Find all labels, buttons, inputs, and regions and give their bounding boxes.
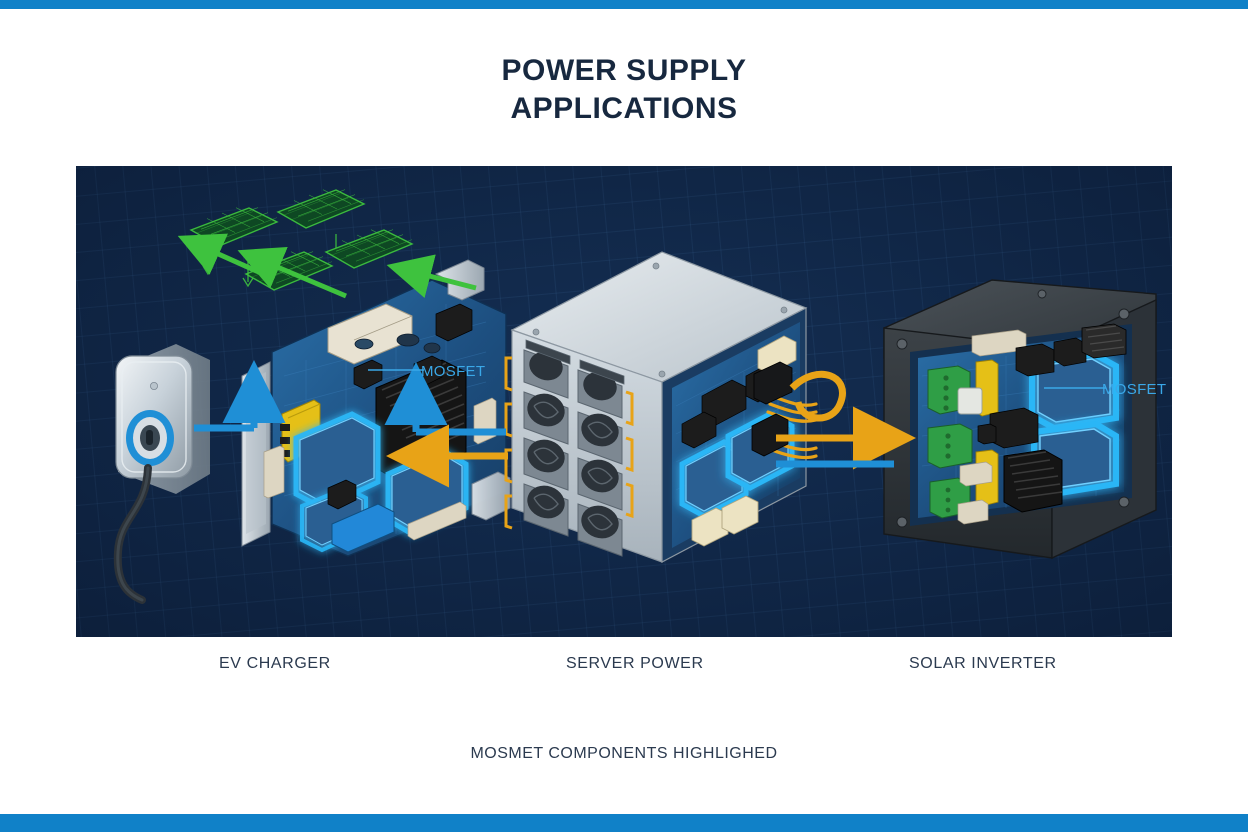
flow-board-to-solar: [196, 244, 476, 296]
page-title: POWER SUPPLY APPLICATIONS: [0, 52, 1248, 128]
page-title-line-2: APPLICATIONS: [0, 90, 1248, 128]
diagram-stage: MOSFET MOSFET: [76, 166, 1172, 637]
footer-caption: MOSMET COMPONENTS HIGHLIGHED: [0, 745, 1248, 763]
label-server-power: SERVER POWER: [566, 655, 704, 673]
bottom-accent-band: [0, 814, 1248, 832]
diagram-panel: MOSFET MOSFET: [76, 166, 1172, 637]
flow-server-to-inverter: [776, 374, 888, 438]
mosfet-callout-label: MOSFET: [1102, 381, 1166, 398]
label-solar-inverter: SOLAR INVERTER: [909, 655, 1057, 673]
category-labels: EV CHARGER SERVER POWER SOLAR INVERTER: [76, 655, 1172, 683]
page-title-line-1: POWER SUPPLY: [502, 54, 747, 87]
flow-charger-input: [194, 388, 254, 428]
flow-ev-feedback: [416, 390, 506, 432]
top-accent-band: [0, 0, 1248, 9]
label-ev-charger: EV CHARGER: [219, 655, 331, 673]
flow-arrows: [76, 166, 1172, 637]
mosfet-callout-label: MOSFET: [421, 363, 485, 380]
